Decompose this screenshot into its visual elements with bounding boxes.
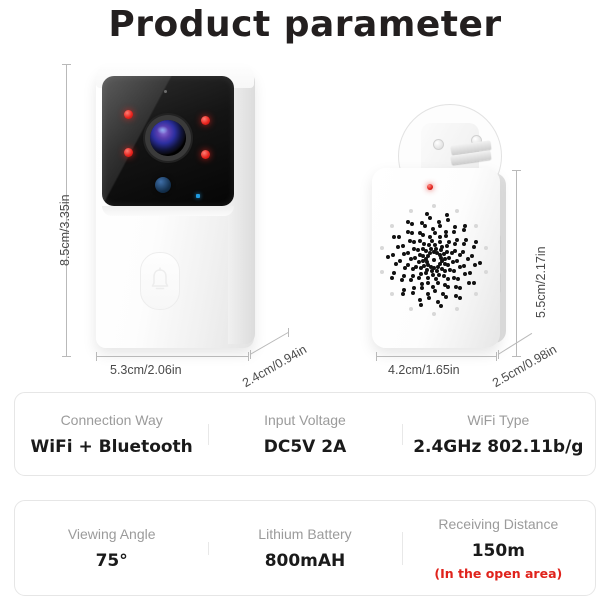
grille-dot [423, 224, 427, 228]
dimension-tick [96, 352, 97, 361]
grille-dot [458, 296, 462, 300]
doorbell-width-label: 5.3cm/2.06in [110, 363, 182, 377]
grille-dot [409, 307, 413, 311]
camera-lens-icon [150, 120, 186, 156]
grille-dot [474, 224, 478, 228]
dimension-tick [288, 328, 289, 337]
grille-dot [418, 298, 422, 302]
grille-dot [391, 253, 395, 257]
doorbell-bell-button[interactable] [140, 252, 180, 310]
doorbell-product-image [88, 56, 263, 351]
grille-dot [431, 227, 435, 231]
spec-cell-lithium-battery: Lithium Battery 800mAH [208, 526, 401, 571]
grille-dot [394, 262, 398, 266]
grille-dot [419, 303, 423, 307]
grille-dot [462, 264, 466, 268]
grille-dot [462, 242, 466, 246]
grille-dot [468, 271, 472, 275]
grille-dot [446, 218, 450, 222]
grille-dot [445, 244, 449, 248]
grille-dot [412, 286, 416, 290]
grille-dot [453, 225, 457, 229]
grille-dot [432, 204, 436, 208]
grille-dot [427, 296, 431, 300]
grille-dot [401, 244, 405, 248]
ir-led-icon [201, 150, 210, 159]
dimension-tick [250, 350, 251, 359]
chime-width-label: 4.2cm/1.65in [388, 363, 460, 377]
dimension-tick [62, 64, 71, 65]
grille-dot [455, 307, 459, 311]
spec-value: 2.4GHz 802.11b/g [408, 437, 589, 457]
grille-dot [462, 228, 466, 232]
doorbell-height-label: 8.5cm/3.35in [58, 194, 72, 266]
grille-dot [446, 263, 450, 267]
grille-dot [463, 224, 467, 228]
grille-dot [446, 285, 450, 289]
grille-dot [400, 278, 404, 282]
grille-dot [409, 257, 413, 261]
grille-dot [444, 230, 448, 234]
dimension-tick [512, 170, 521, 171]
grille-dot [445, 213, 449, 217]
grille-dot [380, 246, 384, 250]
grille-dot [424, 271, 428, 275]
grille-dot [443, 269, 447, 273]
product-illustration-area: 8.5cm/3.35in 5.3cm/2.06in 2.4cm/0.94in [0, 48, 610, 388]
ir-led-icon [201, 116, 210, 125]
grille-dot [410, 231, 414, 235]
grille-dot [402, 252, 406, 256]
spec-label: WiFi Type [408, 412, 589, 428]
grille-dot [425, 212, 429, 216]
dimension-tick [498, 350, 499, 359]
doorbell-faceplate [102, 76, 234, 206]
grille-dot [447, 240, 451, 244]
grille-dot [429, 247, 433, 251]
grille-dot [417, 276, 421, 280]
grille-dot [438, 240, 442, 244]
grille-dot [432, 258, 436, 262]
grille-dot [453, 242, 457, 246]
spec-value: 75° [21, 551, 202, 571]
grille-dot [380, 270, 384, 274]
grille-dot [406, 251, 410, 255]
spec-label: Input Voltage [214, 412, 395, 428]
grille-dot [418, 253, 422, 257]
grille-dot [390, 276, 394, 280]
grille-dot [439, 304, 443, 308]
grille-dot [390, 292, 394, 296]
grille-dot [419, 266, 423, 270]
grille-dot [428, 235, 432, 239]
spec-note: (In the open area) [408, 566, 589, 581]
grille-dot [456, 277, 460, 281]
grille-dot [452, 269, 456, 273]
grille-dot [472, 281, 476, 285]
grille-dot [402, 288, 406, 292]
spec-cell-viewing-angle: Viewing Angle 75° [15, 526, 208, 571]
grille-dot [398, 259, 402, 263]
grille-dot [386, 255, 390, 259]
spec-value: 150m [408, 541, 589, 561]
page-title: Product parameter [0, 4, 610, 45]
dimension-tick [512, 356, 521, 357]
grille-dot [410, 222, 414, 226]
grille-dot [403, 266, 407, 270]
grille-dot [458, 286, 462, 290]
grille-dot [478, 261, 482, 265]
grille-dot [420, 286, 424, 290]
grille-dot [454, 294, 458, 298]
grille-dot [413, 256, 417, 260]
indicator-led-icon [427, 184, 433, 190]
grille-dot [418, 231, 422, 235]
grille-dot [392, 271, 396, 275]
grille-dot [484, 270, 488, 274]
doorbell-faceplate-lip [102, 206, 234, 216]
grille-dot [432, 312, 436, 316]
chime-height-dimension-line [516, 170, 517, 356]
chime-width-dimension-line [376, 356, 496, 357]
spec-cell-input-voltage: Input Voltage DC5V 2A [208, 412, 401, 457]
grille-dot [446, 277, 450, 281]
grille-dot [445, 250, 449, 254]
grille-dot [434, 247, 438, 251]
chime-product-image [372, 168, 522, 353]
spec-cell-receiving-distance: Receiving Distance 150m (In the open are… [402, 516, 595, 581]
grille-dot [408, 239, 412, 243]
grille-dot [412, 240, 416, 244]
grille-dot [426, 281, 430, 285]
product-parameter-page: Product parameter [0, 0, 610, 610]
spec-label: Lithium Battery [214, 526, 395, 542]
ir-led-icon [124, 148, 133, 157]
grille-dot [484, 246, 488, 250]
grille-dot [409, 278, 413, 282]
grille-dot [428, 216, 432, 220]
spec-value: WiFi + Bluetooth [21, 437, 202, 457]
spec-value: 800mAH [214, 551, 395, 571]
grille-dot [455, 209, 459, 213]
grille-dot [440, 245, 444, 249]
grille-dot [474, 240, 478, 244]
grille-dot [452, 230, 456, 234]
grille-dot [397, 235, 401, 239]
spec-cell-connection-way: Connection Way WiFi + Bluetooth [15, 412, 208, 457]
grille-dot [409, 209, 413, 213]
grille-dot [433, 243, 437, 247]
spec-label: Receiving Distance [408, 516, 589, 532]
grille-dot [406, 220, 410, 224]
grille-dot [447, 256, 451, 260]
spec-card-row-1: Connection Way WiFi + Bluetooth Input Vo… [14, 392, 596, 476]
status-led-icon [196, 194, 200, 198]
grille-dot [411, 267, 415, 271]
grille-dot [433, 289, 437, 293]
ir-led-icon [124, 110, 133, 119]
spec-cell-wifi-type: WiFi Type 2.4GHz 802.11b/g [402, 412, 595, 457]
dimension-tick [62, 356, 71, 357]
dimension-tick [376, 352, 377, 361]
chime-body [372, 168, 500, 348]
grille-dot [390, 224, 394, 228]
microphone-icon [164, 90, 167, 93]
grille-dot [421, 259, 425, 263]
grille-dot [470, 254, 474, 258]
grille-dot [444, 295, 448, 299]
speaker-grille-icon [378, 200, 490, 320]
grille-dot [463, 272, 467, 276]
motion-sensor-icon [155, 177, 171, 193]
spec-card-row-2: Viewing Angle 75° Lithium Battery 800mAH… [14, 500, 596, 596]
grille-dot [453, 249, 457, 253]
grille-dot [436, 281, 440, 285]
bell-icon [148, 266, 172, 294]
spec-value: DC5V 2A [214, 437, 395, 457]
grille-dot [467, 281, 471, 285]
grille-dot [461, 250, 465, 254]
grille-dot [437, 273, 441, 277]
doorbell-width-dimension-line [96, 356, 248, 357]
grille-dot [411, 291, 415, 295]
grille-dot [416, 248, 420, 252]
grille-dot [437, 220, 441, 224]
grille-dot [392, 235, 396, 239]
grille-dot [473, 263, 477, 267]
grille-dot [438, 224, 442, 228]
grille-dot [426, 276, 430, 280]
grille-dot [422, 242, 426, 246]
spec-label: Connection Way [21, 412, 202, 428]
grille-dot [438, 235, 442, 239]
grille-dot [396, 245, 400, 249]
grille-dot [406, 230, 410, 234]
screw-icon [433, 139, 444, 150]
grille-dot [417, 260, 421, 264]
grille-dot [430, 239, 434, 243]
grille-dot [464, 238, 468, 242]
spec-label: Viewing Angle [21, 526, 202, 542]
grille-dot [444, 234, 448, 238]
grille-dot [433, 231, 437, 235]
grille-dot [455, 259, 459, 263]
grille-dot [455, 238, 459, 242]
grille-dot [401, 292, 405, 296]
grille-dot [466, 257, 470, 261]
grille-dot [474, 292, 478, 296]
grille-dot [472, 245, 476, 249]
chime-height-label: 5.5cm/2.17in [534, 246, 548, 318]
